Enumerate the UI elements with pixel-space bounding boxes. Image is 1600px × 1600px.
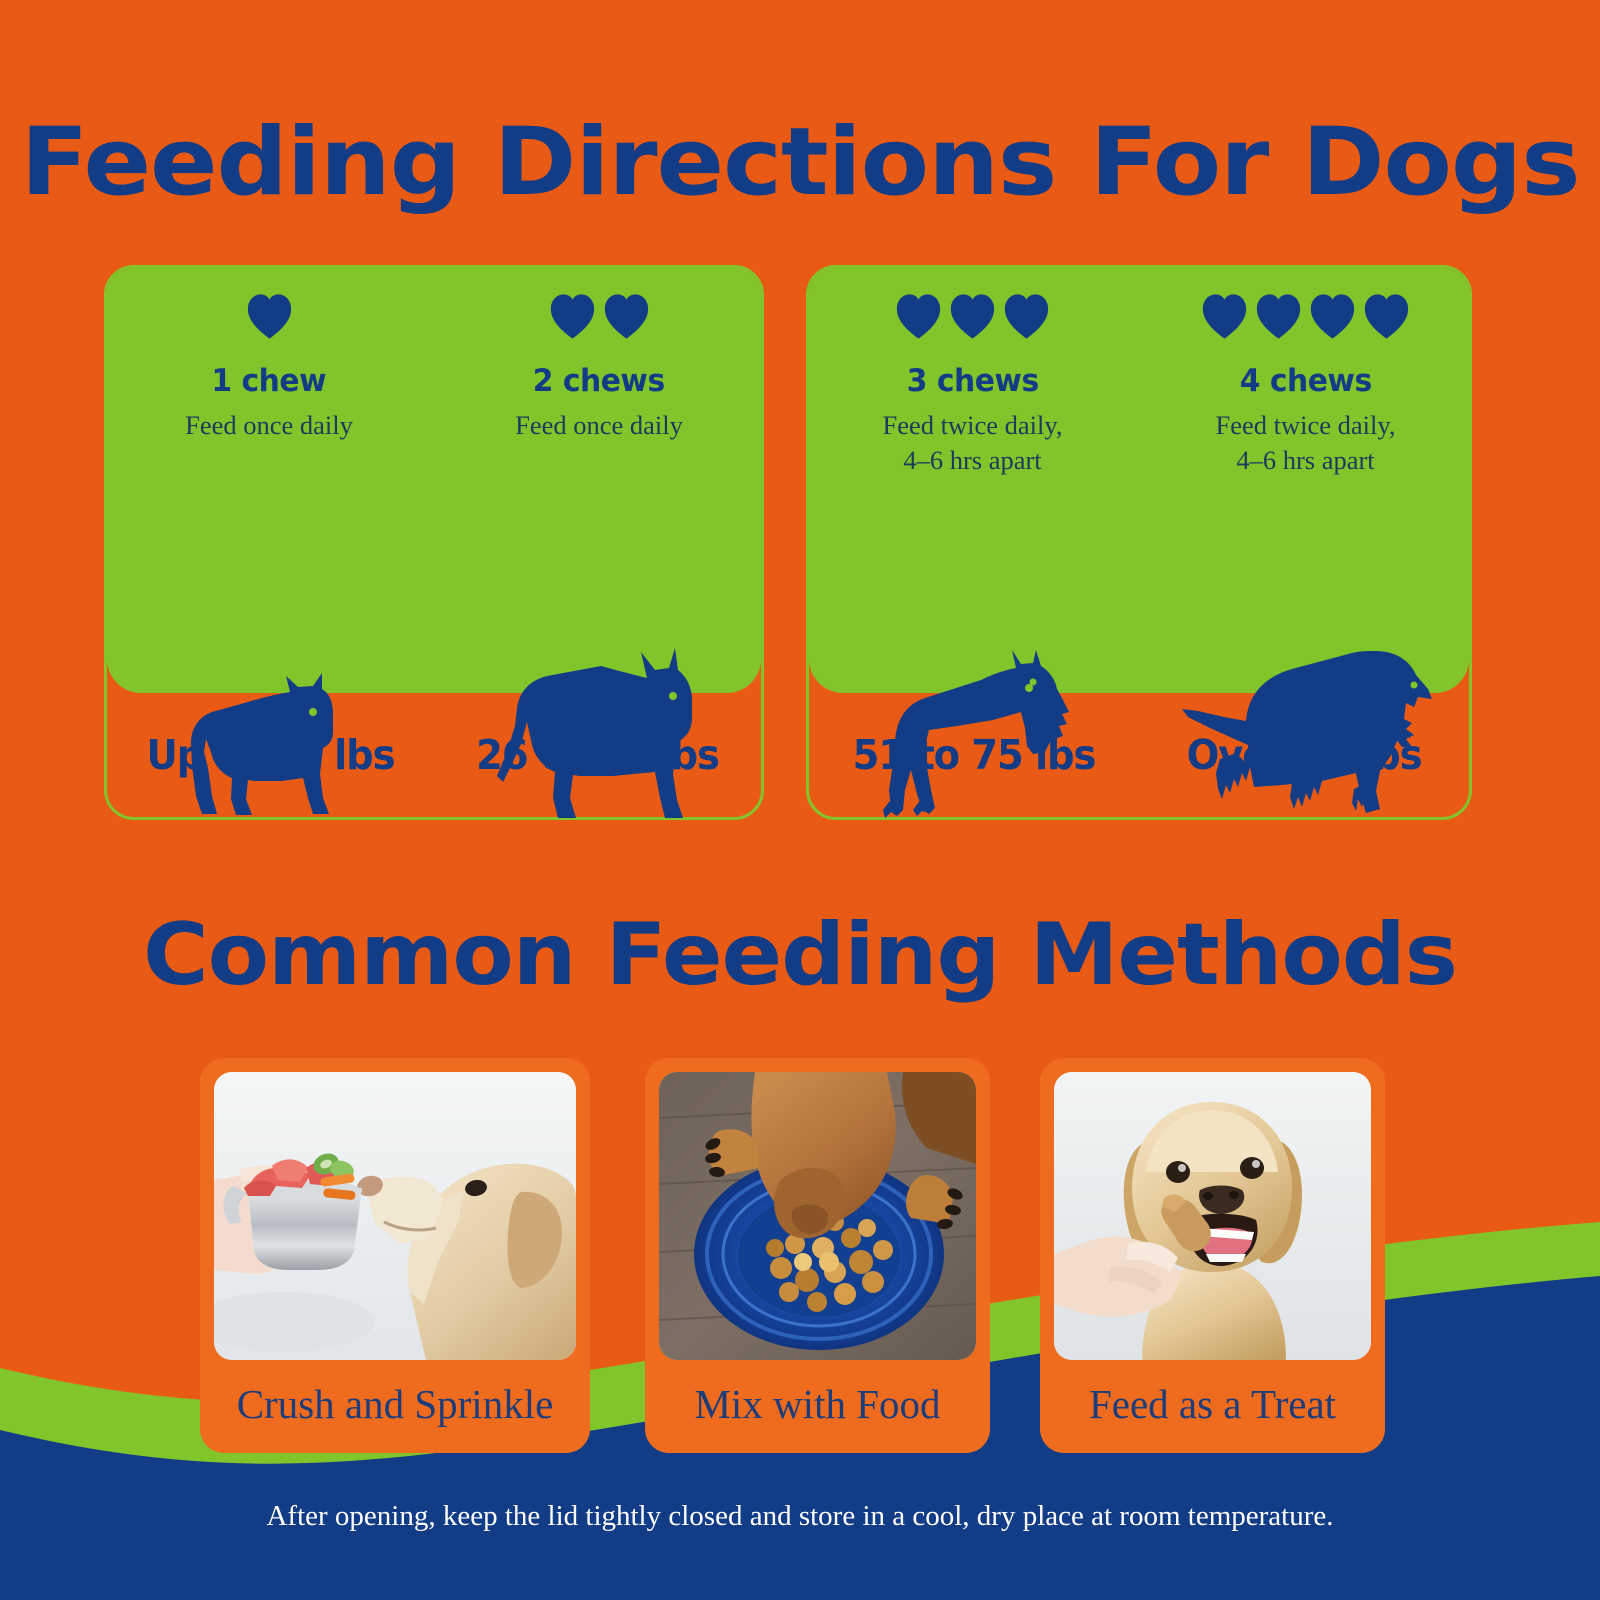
chew-count-label: 4 chews [1240, 363, 1372, 399]
feeding-frequency-text: Feed once daily [185, 408, 353, 443]
feeding-cards-row: 1 chew Feed once daily [0, 265, 1600, 820]
heart-icon [1363, 293, 1410, 340]
weight-range-label: 51 to 75 lbs [819, 731, 1129, 779]
heart-rating-4 [1201, 293, 1410, 355]
weight-range-label: Over 75 lbs [1149, 731, 1459, 779]
large-dogs-card: 3 chews Feed twice daily, 4–6 hrs apart [806, 265, 1472, 820]
frequency-line: 4–6 hrs apart [1215, 443, 1395, 478]
chew-count-label: 1 chew [212, 363, 327, 399]
section-title-common-feeding-methods: Common Feeding Methods [0, 905, 1600, 1005]
method-card-feed-as-a-treat[interactable]: Feed as a Treat [1040, 1058, 1385, 1453]
method-caption: Crush and Sprinkle [200, 1367, 590, 1453]
frequency-line: Feed twice daily, [1215, 408, 1395, 443]
method-caption: Feed as a Treat [1040, 1367, 1385, 1453]
heart-icon [1003, 293, 1050, 340]
chew-count-label: 2 chews [533, 363, 665, 399]
small-dogs-card: 1 chew Feed once daily [104, 265, 764, 820]
feeding-frequency-text: Feed once daily [515, 408, 683, 443]
heart-icon [895, 293, 942, 340]
heart-rating-1 [246, 293, 293, 355]
weight-range-label: Up to 25 lbs [117, 731, 424, 779]
feeding-methods-row: Crush and Sprinkle [0, 1058, 1600, 1458]
heart-icon [1309, 293, 1356, 340]
heart-rating-3 [895, 293, 1050, 355]
frequency-line: Feed once daily [185, 408, 353, 443]
infographic-root: Feeding Directions For Dogs 1 chew Feed … [0, 0, 1600, 1600]
storage-instructions-text: After opening, keep the lid tightly clos… [0, 1500, 1600, 1533]
heart-icon [549, 293, 596, 340]
heart-icon [1201, 293, 1248, 340]
frequency-line: Feed twice daily, [882, 408, 1062, 443]
heart-icon [603, 293, 650, 340]
feeding-frequency-text: Feed twice daily, 4–6 hrs apart [1215, 408, 1395, 478]
photo-crush-and-sprinkle [214, 1072, 576, 1360]
page-title: Feeding Directions For Dogs [0, 108, 1600, 217]
method-card-mix-with-food[interactable]: Mix with Food [645, 1058, 990, 1453]
chew-count-label: 3 chews [907, 363, 1039, 399]
heart-icon [1255, 293, 1302, 340]
method-caption: Mix with Food [645, 1367, 990, 1453]
weight-labels-row: 51 to 75 lbs Over 75 lbs [809, 693, 1469, 817]
photo-mix-with-food [659, 1072, 976, 1360]
heart-icon [246, 293, 293, 340]
feeding-frequency-text: Feed twice daily, 4–6 hrs apart [882, 408, 1062, 478]
frequency-line: 4–6 hrs apart [882, 443, 1062, 478]
weight-range-label: 26 to 50 lbs [444, 731, 751, 779]
heart-rating-2 [549, 293, 650, 355]
frequency-line: Feed once daily [515, 408, 683, 443]
photo-feed-as-a-treat [1054, 1072, 1371, 1360]
heart-icon [949, 293, 996, 340]
weight-labels-row: Up to 25 lbs 26 to 50 lbs [107, 693, 761, 817]
method-card-crush-and-sprinkle[interactable]: Crush and Sprinkle [200, 1058, 590, 1453]
